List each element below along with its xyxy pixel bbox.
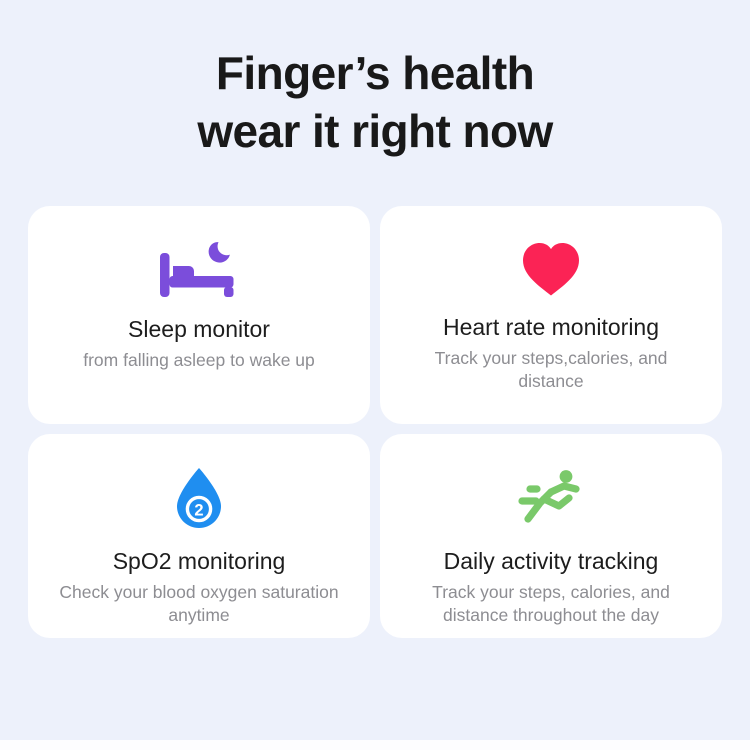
card-title: SpO2 monitoring xyxy=(113,546,286,576)
page-title-line-2: wear it right now xyxy=(0,102,750,160)
feature-card-daily-activity-tracking[interactable]: Daily activity tracking Track your steps… xyxy=(380,434,722,638)
feature-card-sleep-monitor[interactable]: Sleep monitor from falling asleep to wak… xyxy=(28,206,370,424)
feature-card-heart-rate-monitoring[interactable]: Heart rate monitoring Track your steps,c… xyxy=(380,206,722,424)
page-title-line-1: Finger’s health xyxy=(0,44,750,102)
drop-badge-label: 2 xyxy=(194,502,203,520)
card-title: Heart rate monitoring xyxy=(443,312,659,342)
card-title: Daily activity tracking xyxy=(444,546,659,576)
heart-icon xyxy=(519,232,583,306)
water-drop-o2-icon: 2 xyxy=(171,460,227,540)
card-description: from falling asleep to wake up xyxy=(83,349,315,372)
card-title: Sleep monitor xyxy=(128,314,270,344)
promo-page: Finger’s health wear it right now xyxy=(0,0,750,750)
feature-card-grid: Sleep monitor from falling asleep to wak… xyxy=(28,206,722,638)
page-title: Finger’s health wear it right now xyxy=(0,44,750,160)
card-description: Track your steps, calories, and distance… xyxy=(401,581,701,627)
card-description: Check your blood oxygen saturation anyti… xyxy=(49,581,349,627)
card-description: Track your steps,calories, and distance xyxy=(401,347,701,393)
feature-card-spo2-monitoring[interactable]: 2 SpO2 monitoring Check your blood oxyge… xyxy=(28,434,370,638)
running-person-icon xyxy=(514,460,588,540)
bed-moon-icon xyxy=(156,232,242,310)
